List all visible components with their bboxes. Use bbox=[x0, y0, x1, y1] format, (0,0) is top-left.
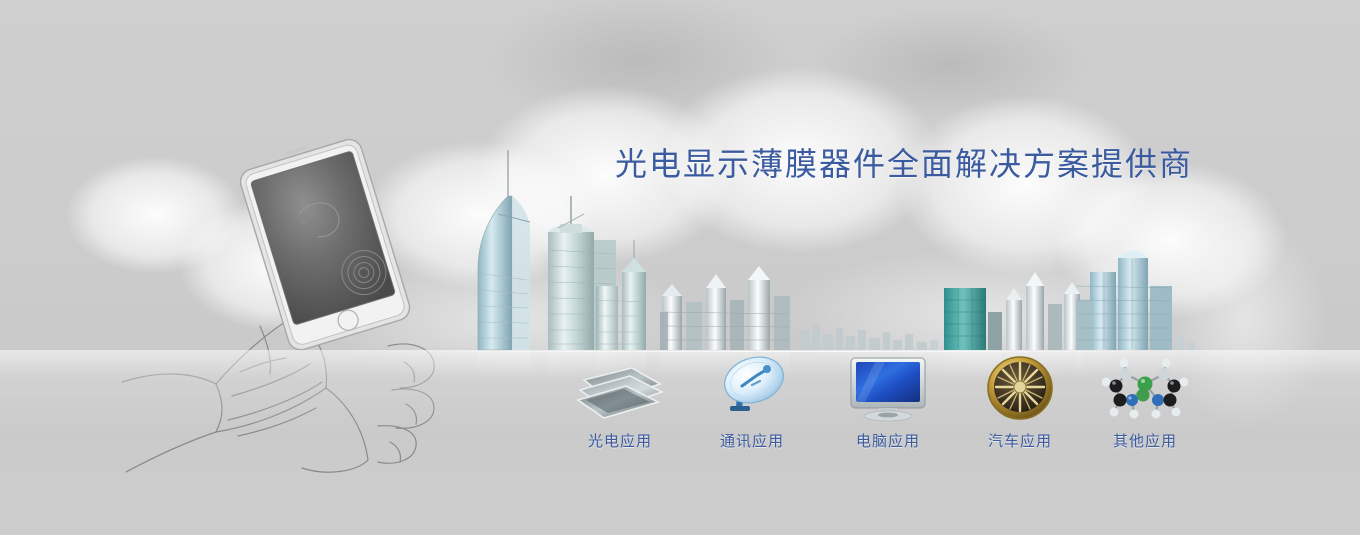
category-label: 光电应用 bbox=[560, 430, 680, 451]
category-label: 汽车应用 bbox=[960, 430, 1080, 451]
category-item-computer[interactable]: 电脑应用 bbox=[828, 352, 948, 451]
category-label: 电脑应用 bbox=[828, 430, 948, 451]
car-wheel-icon bbox=[960, 352, 1080, 424]
category-item-automotive[interactable]: 汽车应用 bbox=[960, 352, 1080, 451]
category-item-communication[interactable]: 通讯应用 bbox=[692, 352, 812, 451]
category-label: 其他应用 bbox=[1085, 430, 1205, 451]
category-item-optoelectronic[interactable]: 光电应用 bbox=[560, 352, 680, 451]
promo-banner: 光电显示薄膜器件全面解决方案提供商 bbox=[0, 0, 1360, 535]
application-category-list: 光电应用 bbox=[560, 352, 1200, 472]
city-skyline-illustration bbox=[0, 0, 1360, 400]
category-label: 通讯应用 bbox=[692, 430, 812, 451]
satellite-dish-icon bbox=[692, 352, 812, 424]
category-item-other[interactable]: 其他应用 bbox=[1085, 352, 1205, 451]
glass-panels-icon bbox=[560, 352, 680, 424]
molecule-icon bbox=[1085, 352, 1205, 424]
lcd-monitor-icon bbox=[828, 352, 948, 424]
page-title: 光电显示薄膜器件全面解决方案提供商 bbox=[615, 139, 1193, 185]
